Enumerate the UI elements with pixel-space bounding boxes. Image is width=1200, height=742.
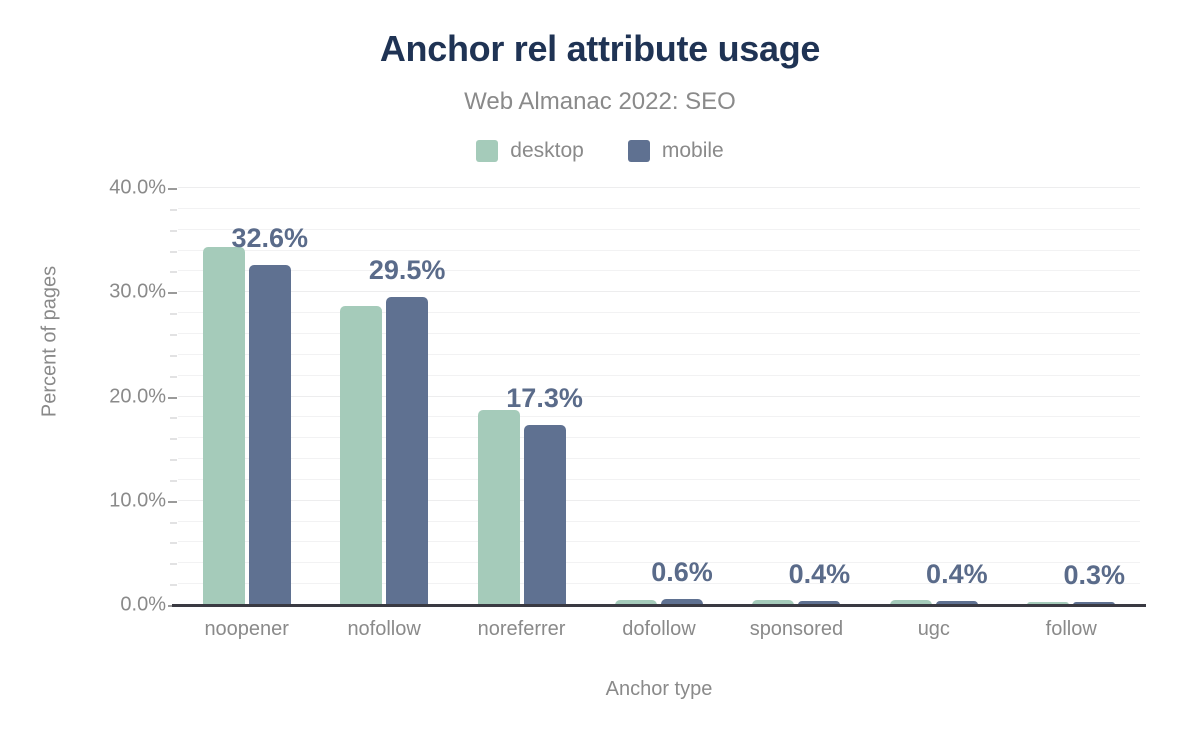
y-axis-title: Percent of pages bbox=[39, 142, 62, 542]
y-tick-mark-minor bbox=[170, 417, 177, 419]
legend-item-desktop[interactable]: desktop bbox=[476, 139, 584, 163]
y-tick-mark-minor bbox=[170, 271, 177, 273]
bar-group-nofollow: 29.5% bbox=[315, 188, 452, 605]
legend-label: mobile bbox=[662, 139, 724, 163]
y-tick-mark-minor bbox=[170, 542, 177, 544]
bar-groups: 32.6%29.5%17.3%0.6%0.4%0.4%0.3% bbox=[178, 188, 1140, 605]
x-tick-label-sponsored: sponsored bbox=[728, 618, 865, 641]
legend-swatch-desktop bbox=[476, 140, 498, 162]
y-tick-mark bbox=[168, 292, 177, 294]
y-tick-mark-minor bbox=[170, 522, 177, 524]
y-tick-mark-minor bbox=[170, 209, 177, 211]
y-tick-mark-minor bbox=[170, 334, 177, 336]
y-tick-mark-minor bbox=[170, 480, 177, 482]
bar-group-ugc: 0.4% bbox=[865, 188, 1002, 605]
chart-title: Anchor rel attribute usage bbox=[0, 28, 1200, 70]
y-tick-label: 10.0% bbox=[46, 489, 166, 512]
y-tick-mark-minor bbox=[170, 438, 177, 440]
bar-group-noopener: 32.6% bbox=[178, 188, 315, 605]
legend-swatch-mobile bbox=[628, 140, 650, 162]
bar-noreferrer-mobile[interactable] bbox=[524, 425, 566, 605]
y-tick-mark-minor bbox=[170, 355, 177, 357]
x-tick-label-nofollow: nofollow bbox=[315, 618, 452, 641]
bar-noreferrer-desktop[interactable] bbox=[478, 410, 520, 605]
data-label-follow: 0.3% bbox=[984, 560, 1200, 591]
y-tick-mark-minor bbox=[170, 459, 177, 461]
bar-group-follow: 0.3% bbox=[1003, 188, 1140, 605]
x-tick-label-ugc: ugc bbox=[865, 618, 1002, 641]
bar-nofollow-desktop[interactable] bbox=[340, 306, 382, 605]
x-axis-labels: noopenernofollownoreferrerdofollowsponso… bbox=[178, 618, 1140, 641]
y-tick-mark bbox=[168, 397, 177, 399]
x-axis-line bbox=[172, 604, 1146, 607]
x-axis-title: Anchor type bbox=[178, 678, 1140, 701]
chart-container: Anchor rel attribute usage Web Almanac 2… bbox=[0, 0, 1200, 742]
x-tick-label-dofollow: dofollow bbox=[590, 618, 727, 641]
plot-area: 32.6%29.5%17.3%0.6%0.4%0.4%0.3% bbox=[178, 188, 1140, 605]
legend-item-mobile[interactable]: mobile bbox=[628, 139, 724, 163]
x-tick-label-noreferrer: noreferrer bbox=[453, 618, 590, 641]
x-tick-label-noopener: noopener bbox=[178, 618, 315, 641]
bar-group-dofollow: 0.6% bbox=[590, 188, 727, 605]
bar-noopener-desktop[interactable] bbox=[203, 247, 245, 605]
bar-group-sponsored: 0.4% bbox=[728, 188, 865, 605]
bar-nofollow-mobile[interactable] bbox=[386, 297, 428, 605]
y-tick-label: 40.0% bbox=[46, 177, 166, 200]
y-tick-mark-minor bbox=[170, 584, 177, 586]
chart-legend: desktopmobile bbox=[0, 139, 1200, 163]
chart-subtitle: Web Almanac 2022: SEO bbox=[0, 88, 1200, 116]
y-tick-label: 0.0% bbox=[46, 594, 166, 617]
y-tick-mark-minor bbox=[170, 313, 177, 315]
y-tick-mark-minor bbox=[170, 376, 177, 378]
y-tick-mark bbox=[168, 188, 177, 190]
y-tick-mark bbox=[168, 501, 177, 503]
bar-noopener-mobile[interactable] bbox=[249, 265, 291, 605]
bar-group-noreferrer: 17.3% bbox=[453, 188, 590, 605]
y-tick-label: 20.0% bbox=[46, 385, 166, 408]
x-tick-label-follow: follow bbox=[1003, 618, 1140, 641]
y-tick-mark-minor bbox=[170, 563, 177, 565]
y-tick-label: 30.0% bbox=[46, 281, 166, 304]
legend-label: desktop bbox=[510, 139, 584, 163]
